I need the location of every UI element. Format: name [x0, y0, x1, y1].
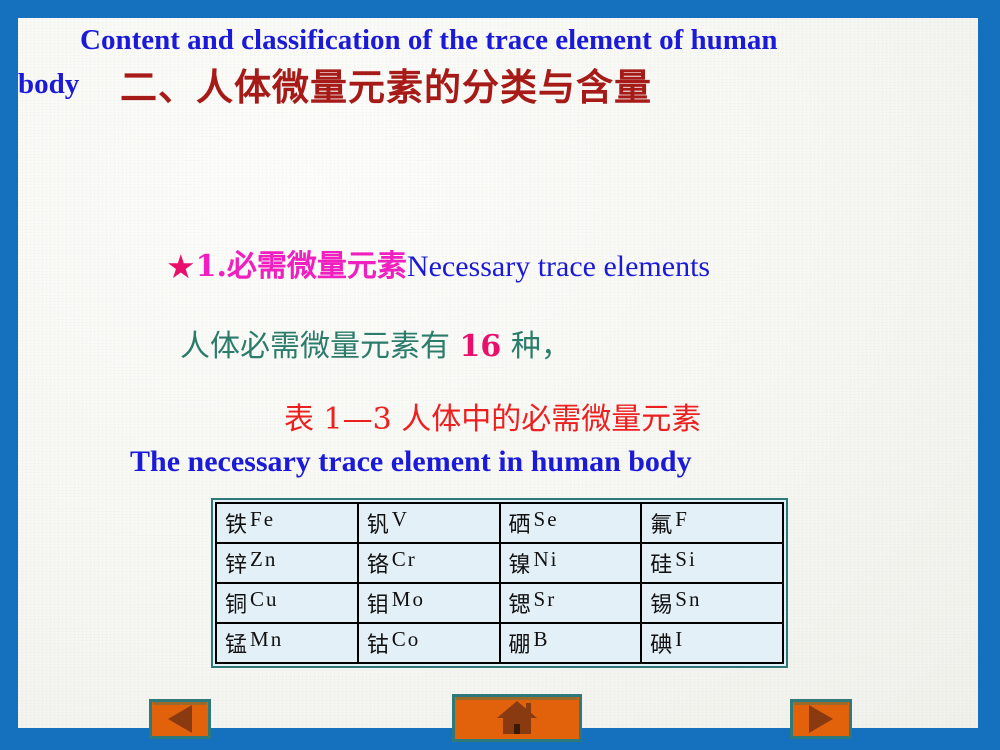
table-cell: 钴Co [358, 623, 500, 663]
button-highlight [794, 702, 848, 705]
element-symbol: Mn [250, 627, 283, 651]
bullet-label-chinese: 必需微量元素 [227, 249, 407, 284]
count-statement-suffix: 种， [501, 329, 571, 364]
element-name-cn: 硼 [509, 633, 531, 658]
element-symbol: Cu [250, 587, 279, 611]
table-row: 铁Fe 钒V 硒Se 氟F [216, 503, 783, 543]
table-row: 锌Zn 铬Cr 镍Ni 硅Si [216, 543, 783, 583]
table-cell: 硼B [500, 623, 642, 663]
previous-slide-button[interactable] [149, 699, 211, 739]
element-symbol: Fe [250, 507, 275, 531]
element-name-cn: 硅 [650, 553, 672, 578]
presentation-slide: 二、人体微量元素的分类与含量 Content and classificatio… [0, 0, 1000, 750]
table-cell: 铜Cu [216, 583, 358, 623]
table-cell: 锌Zn [216, 543, 358, 583]
bullet-label-english: Necessary trace elements [407, 250, 710, 283]
element-symbol: Cr [392, 547, 417, 571]
home-slide-button[interactable] [452, 694, 582, 742]
button-highlight [456, 697, 578, 700]
bullet-number: 1. [196, 249, 227, 284]
element-name-cn: 锰 [225, 633, 247, 658]
table-caption-english: The necessary trace element in human bod… [130, 445, 692, 479]
table-cell: 硒Se [500, 503, 642, 543]
element-name-cn: 铜 [225, 593, 247, 618]
element-name-cn: 镍 [509, 553, 531, 578]
star-icon: ★ [166, 250, 196, 286]
element-symbol: V [392, 507, 409, 531]
element-name-cn: 硒 [509, 513, 531, 538]
element-name-cn: 氟 [650, 513, 672, 538]
element-symbol: Si [675, 547, 697, 571]
element-symbol: Co [392, 627, 421, 651]
table-cell: 氟F [641, 503, 783, 543]
table-cell: 锶Sr [500, 583, 642, 623]
element-name-cn: 铬 [367, 553, 389, 578]
element-name-cn: 锡 [650, 593, 672, 618]
element-name-cn: 铁 [225, 513, 247, 538]
element-symbol: Zn [250, 547, 277, 571]
element-symbol: Ni [534, 547, 559, 571]
necessary-trace-element-table: 铁Fe 钒V 硒Se 氟F 锌Zn 铬Cr 镍Ni 硅Si 铜Cu 钼Mo [211, 498, 788, 668]
table-cell: 碘I [641, 623, 783, 663]
element-name-cn: 碘 [650, 633, 672, 658]
count-statement-prefix: 人体必需微量元素有 [180, 329, 460, 364]
next-slide-button[interactable] [790, 699, 852, 739]
element-name-cn: 锌 [225, 553, 247, 578]
table-cell: 锰Mn [216, 623, 358, 663]
table-cell: 铁Fe [216, 503, 358, 543]
element-grid: 铁Fe 钒V 硒Se 氟F 锌Zn 铬Cr 镍Ni 硅Si 铜Cu 钼Mo [215, 502, 784, 664]
table-cell: 铬Cr [358, 543, 500, 583]
arrow-right-icon [809, 705, 833, 733]
table-row: 锰Mn 钴Co 硼B 碘I [216, 623, 783, 663]
table-row: 铜Cu 钼Mo 锶Sr 锡Sn [216, 583, 783, 623]
table-caption-chinese: 表 1—3 人体中的必需微量元素 [284, 394, 701, 438]
table-cell: 镍Ni [500, 543, 642, 583]
element-name-cn: 锶 [509, 593, 531, 618]
element-symbol: Sr [534, 587, 557, 611]
element-symbol: Se [534, 507, 559, 531]
element-name-cn: 钒 [367, 513, 389, 538]
count-statement: 人体必需微量元素有 16 种， [180, 321, 571, 365]
table-cell: 钒V [358, 503, 500, 543]
table-cell: 硅Si [641, 543, 783, 583]
element-symbol: B [534, 627, 550, 651]
button-highlight [153, 702, 207, 705]
slide-content-area: 二、人体微量元素的分类与含量 Content and classificatio… [18, 18, 978, 728]
element-symbol: Sn [675, 587, 701, 611]
element-symbol: Mo [392, 587, 425, 611]
bullet-necessary-trace-elements: ★1.必需微量元素Necessary trace elements [166, 252, 710, 285]
count-value: 16 [460, 329, 502, 364]
element-name-cn: 钴 [367, 633, 389, 658]
element-symbol: I [675, 627, 684, 651]
house-icon [495, 699, 539, 737]
element-name-cn: 钼 [367, 593, 389, 618]
page-title: 二、人体微量元素的分类与含量 [120, 57, 652, 111]
element-symbol: F [675, 507, 689, 531]
table-cell: 锡Sn [641, 583, 783, 623]
table-cell: 钼Mo [358, 583, 500, 623]
arrow-left-icon [168, 705, 192, 733]
